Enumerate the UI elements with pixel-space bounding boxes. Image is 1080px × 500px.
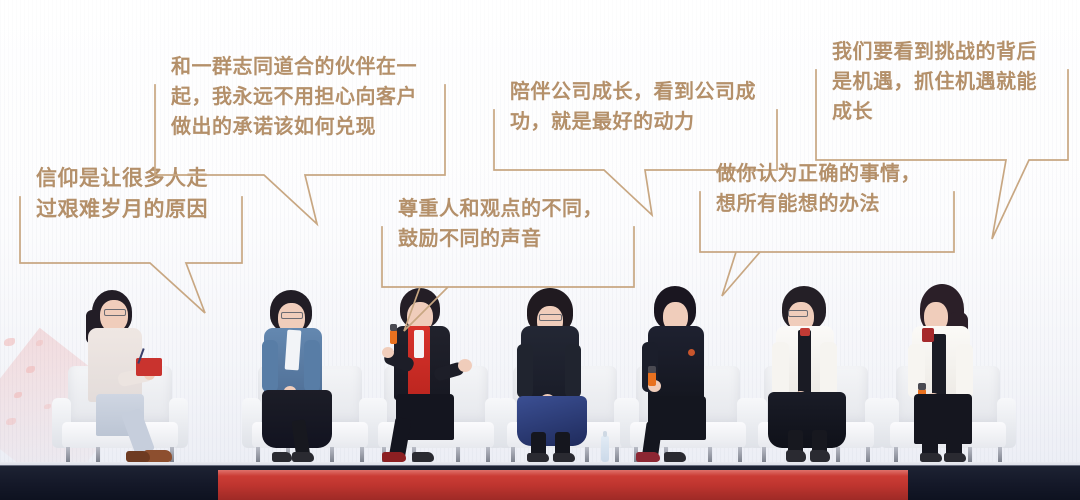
quote-bubble-layer: 信仰是让很多人走 过艰难岁月的原因和一群志同道合的伙伴在一 起，我永远不用担心向… xyxy=(0,0,1080,500)
quote-text: 我们要看到挑战的背后 是机遇，抓住机遇就能 成长 xyxy=(832,36,1074,126)
slide-canvas: 信仰是让很多人走 过艰难岁月的原因和一群志同道合的伙伴在一 起，我永远不用担心向… xyxy=(0,0,1080,500)
